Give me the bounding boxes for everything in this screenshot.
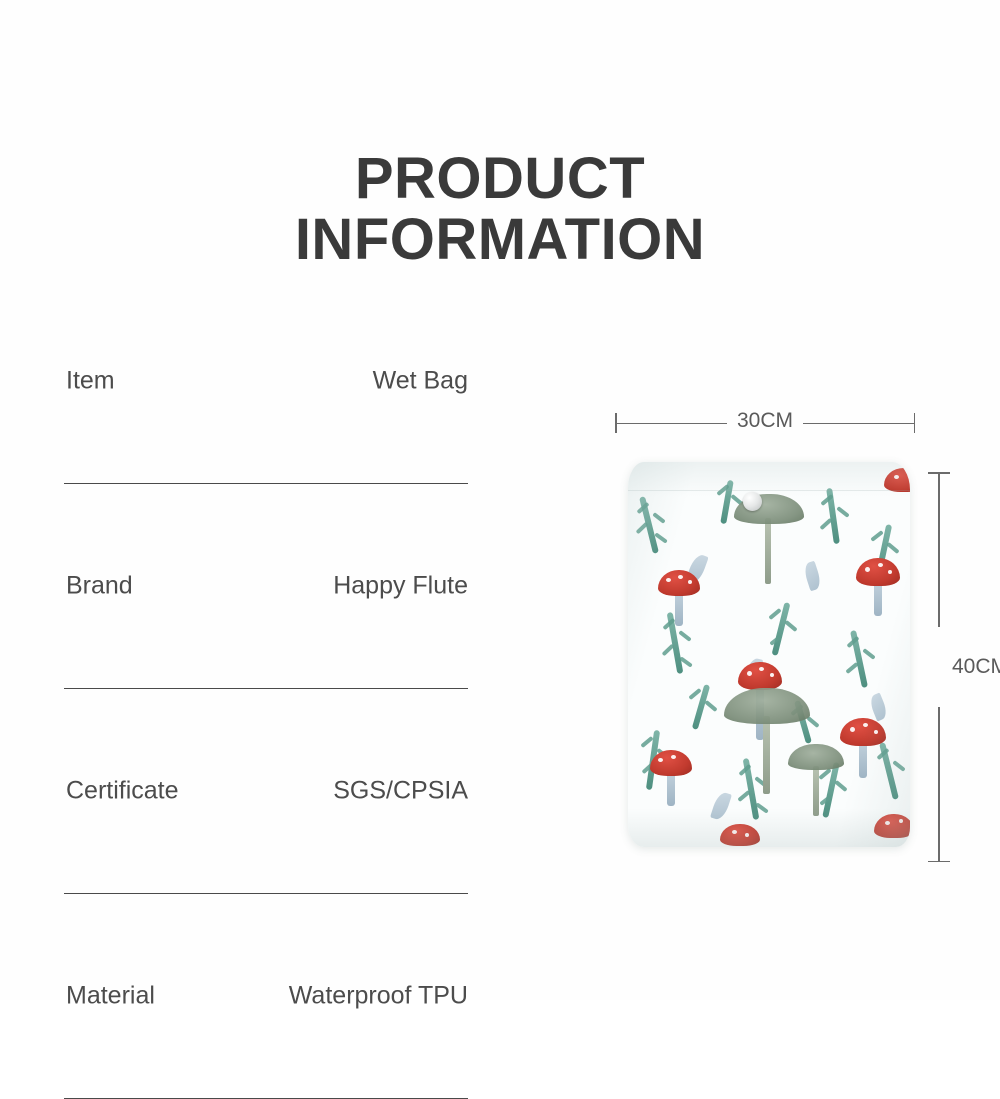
width-dimension: 30CM — [615, 405, 915, 441]
mushroom-spot — [899, 819, 903, 823]
fern-frond — [892, 760, 905, 772]
mushroom-spot — [688, 580, 692, 584]
mushroom-spot — [878, 563, 883, 567]
mushroom-motif — [658, 570, 700, 626]
mushroom-spot — [666, 578, 671, 582]
fern-frond — [704, 700, 717, 712]
spec-label-material: Material — [66, 982, 155, 1011]
bag-fabric-pattern — [628, 462, 910, 847]
table-row: Item Wet Bag — [64, 348, 468, 414]
mushroom-spot — [885, 821, 890, 825]
mushroom-spot — [770, 673, 774, 677]
snap-button-icon — [743, 492, 762, 511]
mushroom-spot — [888, 570, 892, 574]
height-line-top-icon — [938, 472, 940, 627]
page-title: PRODUCT INFORMATION — [0, 148, 1000, 271]
mushroom-spot — [759, 667, 764, 671]
mushroom-motif — [874, 814, 910, 842]
spec-value-item: Wet Bag — [373, 367, 468, 396]
table-row: Brand Happy Flute — [64, 553, 468, 619]
fern-frond — [836, 506, 849, 518]
mushroom-spot — [678, 575, 683, 579]
spec-value-certificate: SGS/CPSIA — [333, 777, 468, 806]
fern-frond — [784, 620, 797, 632]
bag-top-seam — [628, 490, 910, 491]
mushroom-motif — [720, 824, 760, 847]
row-spacer — [64, 619, 468, 688]
width-dimension-label: 30CM — [615, 409, 915, 433]
mushroom-motif — [856, 558, 900, 616]
mushroom-cap — [884, 468, 910, 492]
mushroom-spot — [745, 833, 749, 837]
product-spec-table: Item Wet Bag Brand Happy Flute Certifica… — [64, 348, 468, 1099]
height-line-bottom-icon — [938, 707, 940, 862]
fern-frond — [678, 630, 691, 642]
mushroom-spot — [671, 755, 676, 759]
mushroom-cap — [658, 570, 700, 596]
mushroom-cap — [874, 814, 910, 838]
mushroom-spot — [863, 723, 868, 727]
mushroom-cap — [856, 558, 900, 586]
fern-frond — [845, 662, 858, 674]
row-spacer — [64, 484, 468, 553]
height-tick-bottom-icon — [928, 861, 950, 863]
row-spacer — [64, 824, 468, 893]
mushroom-cap — [650, 750, 692, 776]
mushroom-spot — [658, 758, 663, 762]
green-mushroom-stem — [765, 518, 771, 584]
mushroom-motif — [840, 718, 886, 778]
width-tick-right-icon — [914, 413, 916, 433]
product-illustration: 30CM 40CM — [470, 390, 1000, 890]
mushroom-spot — [908, 473, 910, 477]
mushroom-spot — [865, 567, 870, 572]
mushroom-motif — [884, 468, 910, 498]
table-row: Certificate SGS/CPSIA — [64, 758, 468, 824]
leaf-motif — [802, 561, 823, 592]
fern-frond — [862, 648, 875, 660]
width-line-right-icon — [803, 423, 915, 425]
page-title-line-2: INFORMATION — [0, 209, 1000, 270]
mushroom-spot — [732, 830, 737, 834]
page-title-line-1: PRODUCT — [0, 148, 1000, 209]
green-mushroom-motif — [788, 744, 844, 816]
table-row: Material Waterproof TPU — [64, 963, 468, 1029]
row-spacer — [64, 414, 468, 483]
fern-frond — [886, 542, 899, 554]
wet-bag-image — [620, 462, 910, 852]
spec-value-material: Waterproof TPU — [289, 982, 468, 1011]
row-spacer — [64, 894, 468, 963]
mushroom-motif — [650, 750, 692, 806]
spec-value-brand: Happy Flute — [333, 572, 468, 601]
green-mushroom-stem — [813, 766, 819, 816]
mushroom-spot — [850, 727, 855, 732]
mushroom-cap — [840, 718, 886, 746]
green-mushroom-cap — [724, 688, 810, 724]
mushroom-spot — [874, 730, 878, 734]
spec-label-brand: Brand — [66, 572, 133, 601]
row-spacer — [64, 689, 468, 758]
bag-body — [628, 462, 910, 847]
mushroom-spot — [894, 475, 899, 479]
mushroom-spot — [747, 671, 752, 676]
green-mushroom-stem — [763, 716, 770, 794]
fern-frond — [652, 512, 665, 524]
mushroom-cap — [720, 824, 760, 846]
spec-label-item: Item — [66, 367, 115, 396]
height-dimension: 40CM — [925, 472, 1000, 862]
spec-label-certificate: Certificate — [66, 777, 179, 806]
green-mushroom-cap — [788, 744, 844, 770]
height-dimension-label: 40CM — [952, 655, 1000, 679]
row-spacer — [64, 1029, 468, 1098]
